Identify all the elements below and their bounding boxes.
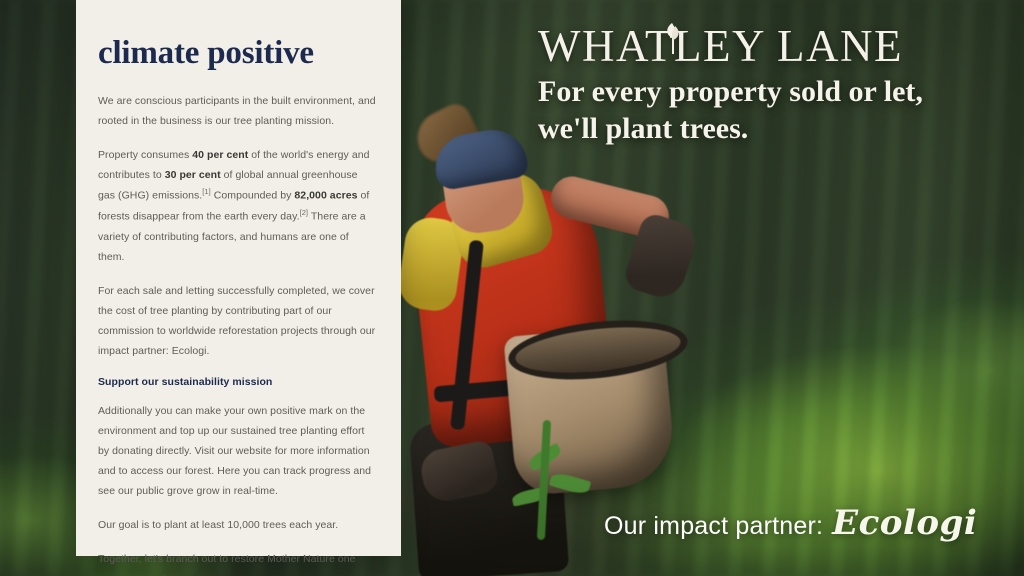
- goal-paragraph: Our goal is to plant at least 10,000 tre…: [98, 515, 377, 535]
- content-panel: climate positive We are conscious partic…: [76, 0, 401, 556]
- impact-partner-label: Our impact partner:: [604, 512, 823, 541]
- commission-paragraph: For each sale and letting successfully c…: [98, 281, 377, 362]
- tagline-line-1: For every property sold or let,: [538, 74, 1008, 111]
- tagline-line-2: we'll plant trees.: [538, 111, 1008, 148]
- page-title: climate positive: [98, 36, 377, 71]
- statistics-paragraph: Property consumes 40 per cent of the wor…: [98, 145, 377, 267]
- brand-block: WHATLEY LANE For every property sold or …: [538, 24, 1008, 147]
- ecologi-logo: Ecologi: [832, 503, 977, 543]
- stat-acres: 82,000 acres: [294, 190, 357, 202]
- stat-energy-percent: 40 per cent: [192, 149, 248, 161]
- brand-name-text: WHATLEY LANE: [538, 21, 903, 71]
- donation-paragraph: Additionally you can make your own posit…: [98, 401, 377, 502]
- footnote-ref-1[interactable]: [1]: [202, 187, 211, 196]
- footnote-ref-2[interactable]: [2]: [300, 208, 309, 217]
- brand-title: WHATLEY LANE: [538, 24, 1008, 69]
- poster-canvas: WHATLEY LANE For every property sold or …: [0, 0, 1024, 576]
- intro-paragraph: We are conscious participants in the bui…: [98, 91, 377, 131]
- closing-paragraph: Together, let's branch out to restore Mo…: [98, 549, 377, 576]
- sapling-leaf-icon: [663, 20, 683, 56]
- impact-partner-block: Our impact partner: Ecologi: [604, 503, 977, 543]
- stat-ghg-percent: 30 per cent: [165, 169, 221, 181]
- sustainability-subheading: Support our sustainability mission: [98, 376, 377, 388]
- brand-tagline: For every property sold or let, we'll pl…: [538, 74, 1008, 147]
